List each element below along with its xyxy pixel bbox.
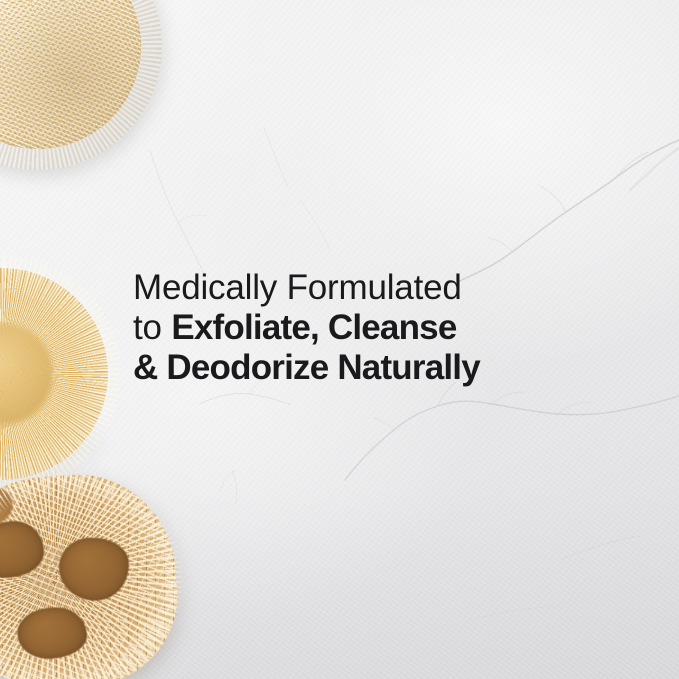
- headline-line-3-text: & Deodorize Naturally: [133, 348, 480, 387]
- headline-line-2-bold-text: Exfoliate, Cleanse: [171, 308, 456, 347]
- loofah-slice: [0, 468, 183, 679]
- headline-line-1: Medically Formulated: [133, 268, 603, 308]
- bristle-brush: [0, 268, 108, 480]
- headline-line-1-text: Medically Formulated: [133, 268, 462, 307]
- headline-line-3: & Deodorize Naturally: [133, 348, 603, 388]
- headline: Medically Formulated to Exfoliate, Clean…: [133, 268, 603, 388]
- headline-line-2: to Exfoliate, Cleanse: [133, 308, 603, 348]
- headline-line-2-light-text: to: [133, 308, 171, 347]
- product-banner: Medically Formulated to Exfoliate, Clean…: [0, 0, 679, 679]
